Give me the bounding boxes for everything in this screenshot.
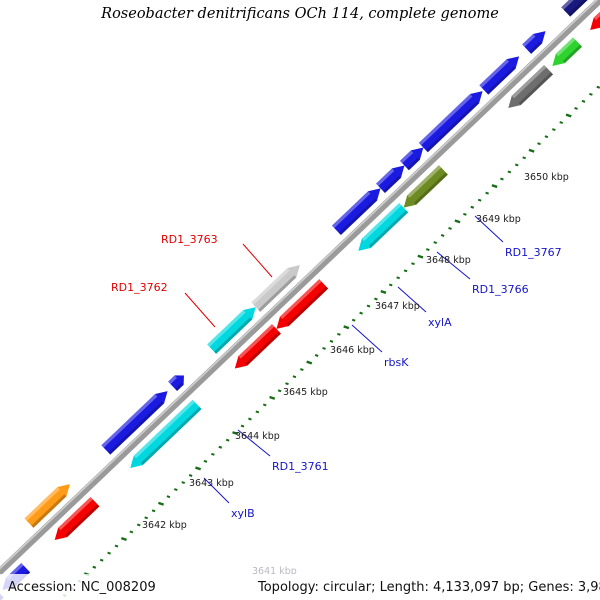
ruler-tick-dash (560, 122, 563, 123)
ruler-tick-dash (434, 242, 437, 243)
ruler-label-3642: 3642 kbp (142, 520, 187, 531)
ruler-tick-dash (352, 320, 355, 321)
ruler-tick-dash (300, 369, 303, 370)
ruler-tick-dash (455, 220, 460, 222)
ruler-tick-dash (566, 115, 571, 117)
ruler-tick-dash (515, 164, 518, 165)
gene-feature[interactable] (479, 56, 519, 94)
ruler-tick-dash (204, 461, 207, 462)
ruler-tick-dash (115, 546, 118, 547)
ruler-tick-dash (211, 454, 214, 455)
status-bar: Accession: NC_008209 Topology: circular;… (0, 574, 600, 600)
ruler-tick-dash (315, 355, 318, 356)
ruler-tick-dash (508, 171, 511, 172)
gene-label-RD1_3763[interactable]: RD1_3763 (161, 233, 218, 246)
ruler-tick-dash (545, 136, 548, 137)
accession-label: Accession: NC_008209 (8, 580, 156, 595)
ruler-tick-dash (537, 143, 540, 144)
ruler-tick-dash (418, 256, 423, 258)
ruler-tick-dash (167, 496, 170, 497)
ruler-label-3646: 3646 kbp (330, 345, 375, 356)
ruler-tick-dash (248, 419, 251, 420)
ruler-tick-dash (589, 94, 592, 95)
gene-highlight (101, 394, 157, 448)
ruler-tick-dash (360, 313, 363, 314)
ruler-tick-dash (344, 326, 349, 328)
ruler-tick-dash (270, 397, 275, 399)
ruler-tick-dash (500, 179, 503, 180)
ruler-tick-dash (449, 228, 452, 229)
ruler-tick-dash (463, 214, 466, 215)
ruler-tick-line (10, 44, 600, 600)
gene-label-RD1_3767[interactable]: RD1_3767 (505, 246, 562, 259)
ruler-tick-dash (426, 249, 429, 250)
genome-summary-label: Topology: circular; Length: 4,133,097 bp… (258, 580, 600, 595)
ruler-label-3648: 3648 kbp (426, 255, 471, 266)
ruler-tick-dash (93, 567, 96, 568)
ruler-tick-dash (189, 475, 192, 476)
ruler-tick-dash (404, 270, 407, 271)
ruler-label-3645: 3645 kbp (283, 387, 328, 398)
gene-label-xylA[interactable]: xylA (428, 316, 452, 329)
ruler-tick-dash (285, 383, 288, 384)
ruler-tick-dash (293, 376, 296, 377)
ruler-tick-dash (381, 291, 386, 293)
ruler-tick-dash (307, 362, 312, 364)
ruler-tick-dash (330, 341, 333, 342)
ruler-tick-dash (158, 503, 163, 505)
gene-feature[interactable] (24, 484, 69, 528)
ruler-tick-dash (100, 560, 103, 561)
ruler-tick-dash (411, 263, 414, 264)
gene-feature-xylA[interactable] (404, 165, 448, 208)
ruler-tick-dash (397, 277, 400, 278)
ruler-tick-dash (219, 447, 222, 448)
gene-label-RD1_3766[interactable]: RD1_3766 (472, 283, 529, 296)
leader-line-RD1_3763 (243, 244, 272, 277)
leader-line-RD1_3762 (185, 293, 215, 327)
ruler-tick-dash (389, 284, 392, 285)
ruler-tick-dash (478, 200, 481, 201)
ruler-tick-dash (278, 390, 281, 391)
gene-label-rbsK[interactable]: rbsK (384, 356, 408, 369)
gene-feature[interactable] (55, 497, 100, 540)
ruler-tick-dash (256, 411, 259, 412)
ruler-label-3644: 3644 kbp (235, 431, 280, 442)
ruler-tick-dash (121, 538, 126, 540)
ruler-tick-dash (374, 299, 377, 300)
ruler-tick-dash (137, 524, 140, 525)
ruler-tick-dash (108, 553, 111, 554)
gene-feature[interactable] (235, 324, 281, 368)
ruler-tick-dash (597, 87, 600, 88)
ruler-tick-dash (492, 185, 497, 187)
gene-highlight (419, 94, 473, 145)
ruler-label-3643: 3643 kbp (189, 478, 234, 489)
ruler-tick-dash (226, 440, 229, 441)
gene-label-RD1_3762[interactable]: RD1_3762 (111, 281, 168, 294)
ruler-tick-dash (130, 531, 133, 532)
ruler-label-3647: 3647 kbp (375, 301, 420, 312)
genome-viewer-canvas: Roseobacter denitrificans OCh 114, compl… (0, 0, 600, 600)
ruler-tick-dash (529, 150, 534, 152)
ruler-tick-dash (575, 108, 578, 109)
ruler-tick-dash (323, 348, 326, 349)
ruler-tick-dash (367, 306, 370, 307)
ruler-tick-dash (152, 510, 155, 511)
ruler-tick-dash (523, 157, 526, 158)
ruler-tick-dash (582, 101, 585, 102)
ruler-label-3649: 3649 kbp (476, 214, 521, 225)
ruler-tick-dash (486, 193, 489, 194)
ruler-tick-dash (182, 482, 185, 483)
genome-map-graphic (0, 0, 600, 600)
ruler-tick-dash (471, 207, 474, 208)
gene-label-RD1_3761[interactable]: RD1_3761 (272, 460, 329, 473)
ruler-tick-dash (441, 235, 444, 236)
ruler-tick-dash (552, 129, 555, 130)
gene-feature[interactable] (508, 65, 553, 108)
ruler-tick-dash (263, 404, 266, 405)
ruler-tick-dash (337, 334, 340, 335)
ruler-tick-dash (145, 517, 148, 518)
ruler-tick-dash (241, 426, 244, 427)
ruler-tick-dash (174, 489, 177, 490)
ruler-tick-dash (195, 468, 200, 470)
gene-label-xylB[interactable]: xylB (231, 507, 255, 520)
ruler-label-3650: 3650 kbp (524, 172, 569, 183)
